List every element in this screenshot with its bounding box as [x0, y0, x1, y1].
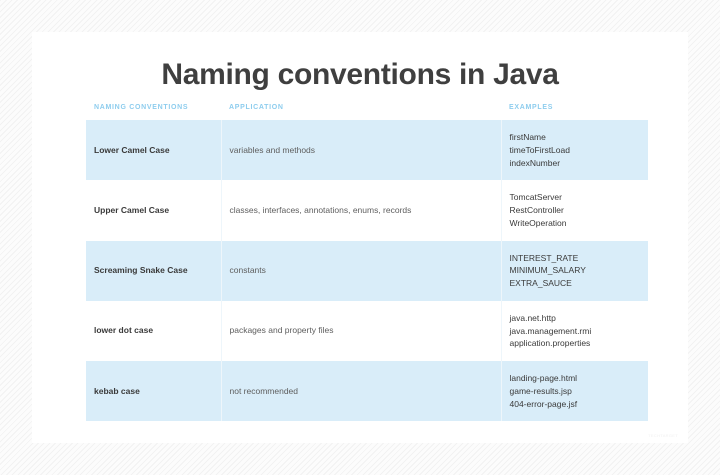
convention-name-text: kebab case: [94, 386, 213, 397]
column-header-naming-conventions: NAMING CONVENTIONS: [86, 104, 221, 120]
convention-name-text: Lower Camel Case: [94, 145, 213, 156]
cell-examples: landing-page.html game-results.jsp 404-e…: [501, 361, 648, 421]
examples-list: landing-page.html game-results.jsp 404-e…: [510, 372, 641, 410]
examples-list: java.net.http java.management.rmi applic…: [510, 312, 641, 350]
table-row: Upper Camel Case classes, interfaces, an…: [86, 180, 648, 240]
convention-name-text: Screaming Snake Case: [94, 265, 213, 276]
cell-convention-name: Lower Camel Case: [86, 120, 221, 180]
column-header-application: APPLICATION: [221, 104, 501, 120]
table-row: Lower Camel Case variables and methods f…: [86, 120, 648, 180]
example-item: java.net.http: [510, 312, 641, 325]
convention-name-text: Upper Camel Case: [94, 205, 213, 216]
application-text: constants: [230, 265, 493, 276]
cell-application: packages and property files: [221, 301, 501, 361]
cell-application: variables and methods: [221, 120, 501, 180]
cell-convention-name: Upper Camel Case: [86, 180, 221, 240]
examples-list: firstName timeToFirstLoad indexNumber: [510, 131, 641, 169]
cell-examples: java.net.http java.management.rmi applic…: [501, 301, 648, 361]
example-item: 404-error-page.jsf: [510, 398, 641, 411]
cell-examples: TomcatServer RestController WriteOperati…: [501, 180, 648, 240]
application-text: packages and property files: [230, 325, 493, 336]
column-header-examples: EXAMPLES: [501, 104, 648, 120]
cell-application: not recommended: [221, 361, 501, 421]
example-item: MINIMUM_SALARY: [510, 264, 641, 277]
convention-name-text: lower dot case: [94, 325, 213, 336]
table-header-row: NAMING CONVENTIONS APPLICATION EXAMPLES: [86, 104, 648, 120]
examples-list: TomcatServer RestController WriteOperati…: [510, 191, 641, 229]
application-text: classes, interfaces, annotations, enums,…: [230, 205, 493, 216]
table-row: Screaming Snake Case constants INTEREST_…: [86, 241, 648, 301]
table-row: kebab case not recommended landing-page.…: [86, 361, 648, 421]
example-item: landing-page.html: [510, 372, 641, 385]
example-item: game-results.jsp: [510, 385, 641, 398]
example-item: indexNumber: [510, 157, 641, 170]
example-item: INTEREST_RATE: [510, 252, 641, 265]
table-body: Lower Camel Case variables and methods f…: [86, 120, 648, 421]
page-title: Naming conventions in Java: [32, 32, 688, 92]
example-item: TomcatServer: [510, 191, 641, 204]
table-row: lower dot case packages and property fil…: [86, 301, 648, 361]
cell-examples: INTEREST_RATE MINIMUM_SALARY EXTRA_SAUCE: [501, 241, 648, 301]
table-header: NAMING CONVENTIONS APPLICATION EXAMPLES: [86, 104, 648, 120]
cell-examples: firstName timeToFirstLoad indexNumber: [501, 120, 648, 180]
cell-application: classes, interfaces, annotations, enums,…: [221, 180, 501, 240]
example-item: application.properties: [510, 337, 641, 350]
cell-application: constants: [221, 241, 501, 301]
example-item: timeToFirstLoad: [510, 144, 641, 157]
example-item: firstName: [510, 131, 641, 144]
application-text: variables and methods: [230, 145, 493, 156]
conventions-table: NAMING CONVENTIONS APPLICATION EXAMPLES …: [86, 104, 648, 421]
examples-list: INTEREST_RATE MINIMUM_SALARY EXTRA_SAUCE: [510, 252, 641, 290]
example-item: EXTRA_SAUCE: [510, 277, 641, 290]
application-text: not recommended: [230, 386, 493, 397]
example-item: RestController: [510, 204, 641, 217]
cell-convention-name: lower dot case: [86, 301, 221, 361]
watermark-text: TECHTARGET: [648, 433, 678, 438]
cell-convention-name: Screaming Snake Case: [86, 241, 221, 301]
cell-convention-name: kebab case: [86, 361, 221, 421]
infographic-card: Naming conventions in Java NAMING CONVEN…: [32, 32, 688, 443]
conventions-table-container: NAMING CONVENTIONS APPLICATION EXAMPLES …: [86, 104, 648, 421]
example-item: WriteOperation: [510, 217, 641, 230]
example-item: java.management.rmi: [510, 325, 641, 338]
